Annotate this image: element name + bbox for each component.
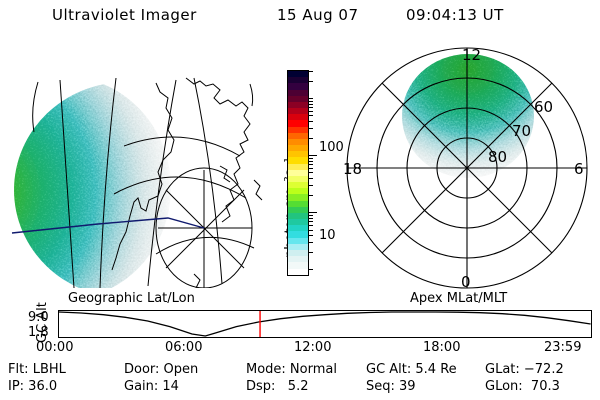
colorbar-tick bbox=[309, 71, 313, 72]
colorbar-tick bbox=[309, 235, 313, 236]
colorbar-label-10: 10 bbox=[319, 229, 336, 242]
apex-aurora-emission bbox=[402, 54, 534, 178]
colorbar-tick bbox=[309, 104, 313, 105]
status-ip: IP: 36.0 bbox=[8, 379, 57, 394]
colorbar-tick bbox=[309, 161, 313, 162]
strip-xtick-4: 23:59 bbox=[544, 341, 581, 354]
apex-polar-panel: 12 6 0 18 60 70 80 bbox=[340, 44, 598, 292]
status-seq: Seq: 39 bbox=[366, 379, 416, 394]
mlt-label-18: 18 bbox=[343, 160, 362, 178]
page-title: Ultraviolet Imager bbox=[52, 8, 197, 23]
colorbar-tick bbox=[309, 215, 313, 216]
status-dsp: Dsp: 5.2 bbox=[246, 379, 309, 394]
strip-xtick-2: 12:00 bbox=[294, 341, 331, 354]
colorbar-tick bbox=[309, 230, 313, 231]
latitude-label-70: 70 bbox=[512, 122, 531, 140]
strip-ytick-bottom: 1.8 bbox=[28, 326, 49, 339]
strip-xtick-3: 18:00 bbox=[423, 341, 460, 354]
header-time: 09:04:13 UT bbox=[406, 8, 504, 23]
colorbar-tick bbox=[309, 242, 313, 243]
colorbar-axis-title: photon cm⁻²s⁻¹ bbox=[270, 108, 286, 258]
ultraviolet-imager-display: Ultraviolet Imager 15 Aug 07 09:04:13 UT bbox=[0, 0, 600, 400]
strip-xtick-1: 06:00 bbox=[165, 341, 202, 354]
colorbar-tick bbox=[309, 121, 313, 122]
apex-panel-caption: Apex MLat/MLT bbox=[410, 292, 507, 305]
colorbar-tick bbox=[309, 225, 313, 226]
header-date: 15 Aug 07 bbox=[277, 8, 359, 23]
colorbar-tick bbox=[309, 195, 313, 196]
status-mode: Mode: Normal bbox=[246, 362, 337, 377]
geographic-projection bbox=[8, 48, 266, 288]
colorbar-tick bbox=[309, 212, 317, 213]
colorbar-tick bbox=[309, 107, 313, 108]
header: Ultraviolet Imager 15 Aug 07 09:04:13 UT bbox=[0, 8, 600, 30]
colorbar bbox=[287, 70, 309, 276]
strip-ytick-top: 9.0 bbox=[28, 311, 49, 324]
colorbar-tick bbox=[309, 178, 313, 179]
colorbar-tick bbox=[309, 269, 313, 270]
colorbar-tick bbox=[309, 101, 313, 102]
colorbar-band-32 bbox=[288, 269, 308, 275]
altitude-trace bbox=[59, 312, 591, 336]
status-gain: Gain: 14 bbox=[124, 379, 179, 394]
colorbar-tick bbox=[309, 111, 313, 112]
colorbar-tick bbox=[309, 158, 313, 159]
status-door: Door: Open bbox=[124, 362, 198, 377]
colorbar-tick bbox=[309, 115, 313, 116]
mlt-label-12: 12 bbox=[462, 46, 481, 64]
colorbar-tick bbox=[309, 81, 313, 82]
colorbar-tick bbox=[309, 98, 313, 99]
aurora-emission bbox=[8, 76, 171, 288]
colorbar-tick bbox=[309, 155, 317, 156]
status-glon: GLon: 70.3 bbox=[485, 379, 560, 394]
geographic-image-panel bbox=[8, 48, 266, 288]
colorbar-tick bbox=[309, 252, 313, 253]
gc-altitude-strip-chart bbox=[58, 310, 592, 338]
latitude-label-60: 60 bbox=[534, 98, 553, 116]
status-flt: Flt: LBHL bbox=[8, 362, 66, 377]
colorbar-tick bbox=[309, 185, 313, 186]
status-glat: GLat: −72.2 bbox=[485, 362, 564, 377]
mlt-label-0: 0 bbox=[461, 273, 471, 291]
status-footer: Flt: LBHL Door: Open Mode: Normal GC Alt… bbox=[0, 362, 600, 398]
colorbar-tick bbox=[309, 218, 313, 219]
gc-altitude-curve bbox=[59, 311, 591, 337]
colorbar-ticks bbox=[309, 70, 317, 276]
colorbar-tick bbox=[309, 221, 313, 222]
strip-xtick-0: 00:00 bbox=[36, 341, 73, 354]
apex-polar-projection: 12 6 0 18 60 70 80 bbox=[340, 44, 598, 292]
colorbar-tick bbox=[309, 168, 313, 169]
colorbar-tick bbox=[309, 128, 313, 129]
colorbar-tick bbox=[309, 138, 313, 139]
geographic-panel-caption: Geographic Lat/Lon bbox=[68, 292, 195, 305]
latitude-label-80: 80 bbox=[488, 148, 507, 166]
mlt-label-6: 6 bbox=[574, 160, 584, 178]
colorbar-tick bbox=[309, 172, 313, 173]
status-gc-alt: GC Alt: 5.4 Re bbox=[366, 362, 457, 377]
mlt-spokes bbox=[347, 48, 587, 288]
colorbar-tick bbox=[309, 164, 313, 165]
